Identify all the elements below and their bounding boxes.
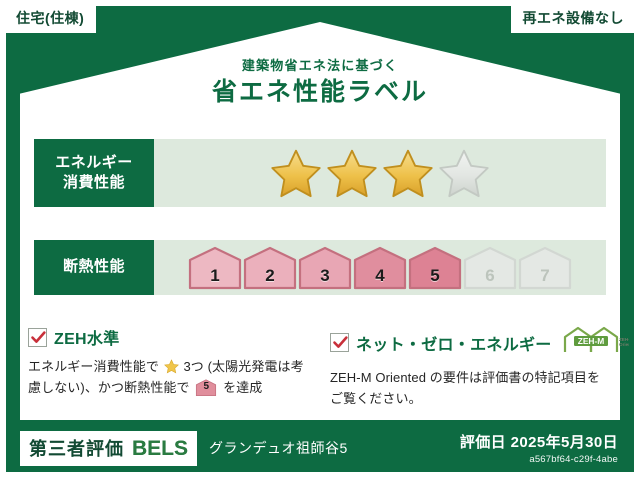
insulation-level-badge: 5 (408, 246, 462, 290)
zeh-heading-row: ZEH水準 (28, 325, 310, 349)
insulation-level-badge: 2 (243, 246, 297, 290)
insulation-level-badge: 6 (463, 246, 517, 290)
insulation-level-scale: 1234567 (154, 240, 606, 295)
star-filled-icon (382, 148, 434, 198)
net-zero-checkbox[interactable] (330, 333, 349, 352)
bels-logo-text: BELS (132, 437, 188, 461)
inline-star-icon (164, 359, 179, 374)
insulation-performance-label-text: 断熱性能 (63, 257, 125, 277)
insulation-level-number: 4 (353, 266, 407, 286)
zeh-standard-section: ZEH水準 エネルギー消費性能で 3つ (太陽光発電は考慮しない)、かつ断熱性能… (28, 325, 310, 399)
evaluation-date: 評価日 2025年5月30日 (460, 431, 618, 452)
insulation-level-number: 2 (243, 266, 297, 286)
title-block: 建築物省エネ法に基づく 省エネ性能ラベル (0, 58, 640, 108)
zeh-heading: ZEH水準 (54, 325, 120, 349)
zeh-description-part3: を達成 (223, 380, 262, 395)
title-subtitle: 建築物省エネ法に基づく (0, 58, 640, 74)
net-zero-heading: ネット・ゼロ・エネルギー (356, 331, 552, 355)
bels-badge: 第三者評価 BELS (20, 431, 197, 466)
insulation-level-number: 1 (188, 266, 242, 286)
energy-performance-label-line1: エネルギー (55, 153, 133, 173)
third-party-eval-label: 第三者評価 (29, 435, 124, 461)
star-filled-icon (270, 148, 322, 198)
footer-bar: 第三者評価 BELS グランデュオ祖師谷5 評価日 2025年5月30日 a56… (6, 424, 634, 472)
insulation-level-number: 3 (298, 266, 352, 286)
energy-performance-label: エネルギー 消費性能 (34, 139, 154, 207)
insulation-level-number: 7 (518, 266, 572, 286)
zeh-description-part1: エネルギー消費性能で (28, 359, 159, 374)
svg-text:Oriented: Oriented (619, 342, 629, 347)
evaluation-info: 評価日 2025年5月30日 a567bf64-c29f-4abe (460, 431, 618, 465)
insulation-level-number: 6 (463, 266, 517, 286)
insulation-performance-row: 断熱性能 1234567 (34, 240, 606, 295)
energy-performance-row: エネルギー 消費性能 (34, 139, 606, 207)
page-title: 省エネ性能ラベル (0, 76, 640, 109)
energy-performance-label-line2: 消費性能 (63, 173, 125, 193)
inline-level-badge-number: 5 (195, 379, 217, 396)
insulation-level-badge: 7 (518, 246, 572, 290)
building-name: グランデュオ祖師谷5 (209, 438, 348, 458)
building-type-tag: 住宅(住棟) (4, 4, 96, 33)
renewable-energy-tag: 再エネ設備なし (511, 4, 637, 33)
evaluation-id: a567bf64-c29f-4abe (460, 454, 618, 465)
svg-text:ZEH-M: ZEH-M (577, 336, 604, 346)
insulation-level-badge: 1 (188, 246, 242, 290)
star-empty-icon (438, 148, 490, 198)
net-zero-heading-row: ネット・ゼロ・エネルギー ZEH-M ZEH-M Oriented (330, 325, 612, 360)
zeh-description: エネルギー消費性能で 3つ (太陽光発電は考慮しない)、かつ断熱性能で 5 を達… (28, 356, 310, 399)
insulation-level-badge: 4 (353, 246, 407, 290)
energy-performance-label: 住宅(住棟) 再エネ設備なし 建築物省エネ法に基づく 省エネ性能ラベル エネルギ… (0, 0, 640, 478)
star-rating (154, 139, 606, 207)
zeh-m-logo-icon: ZEH-M ZEH-M Oriented (561, 325, 629, 360)
insulation-level-number: 5 (408, 266, 462, 286)
net-zero-description: ZEH-M Oriented の要件は評価書の特記項目をご覧ください。 (330, 367, 612, 410)
zeh-checkbox[interactable] (28, 328, 47, 347)
star-filled-icon (326, 148, 378, 198)
insulation-level-badge: 3 (298, 246, 352, 290)
net-zero-energy-section: ネット・ゼロ・エネルギー ZEH-M ZEH-M Oriented ZEH-M … (330, 325, 612, 410)
inline-level-badge: 5 (195, 379, 217, 396)
insulation-performance-label: 断熱性能 (34, 240, 154, 295)
